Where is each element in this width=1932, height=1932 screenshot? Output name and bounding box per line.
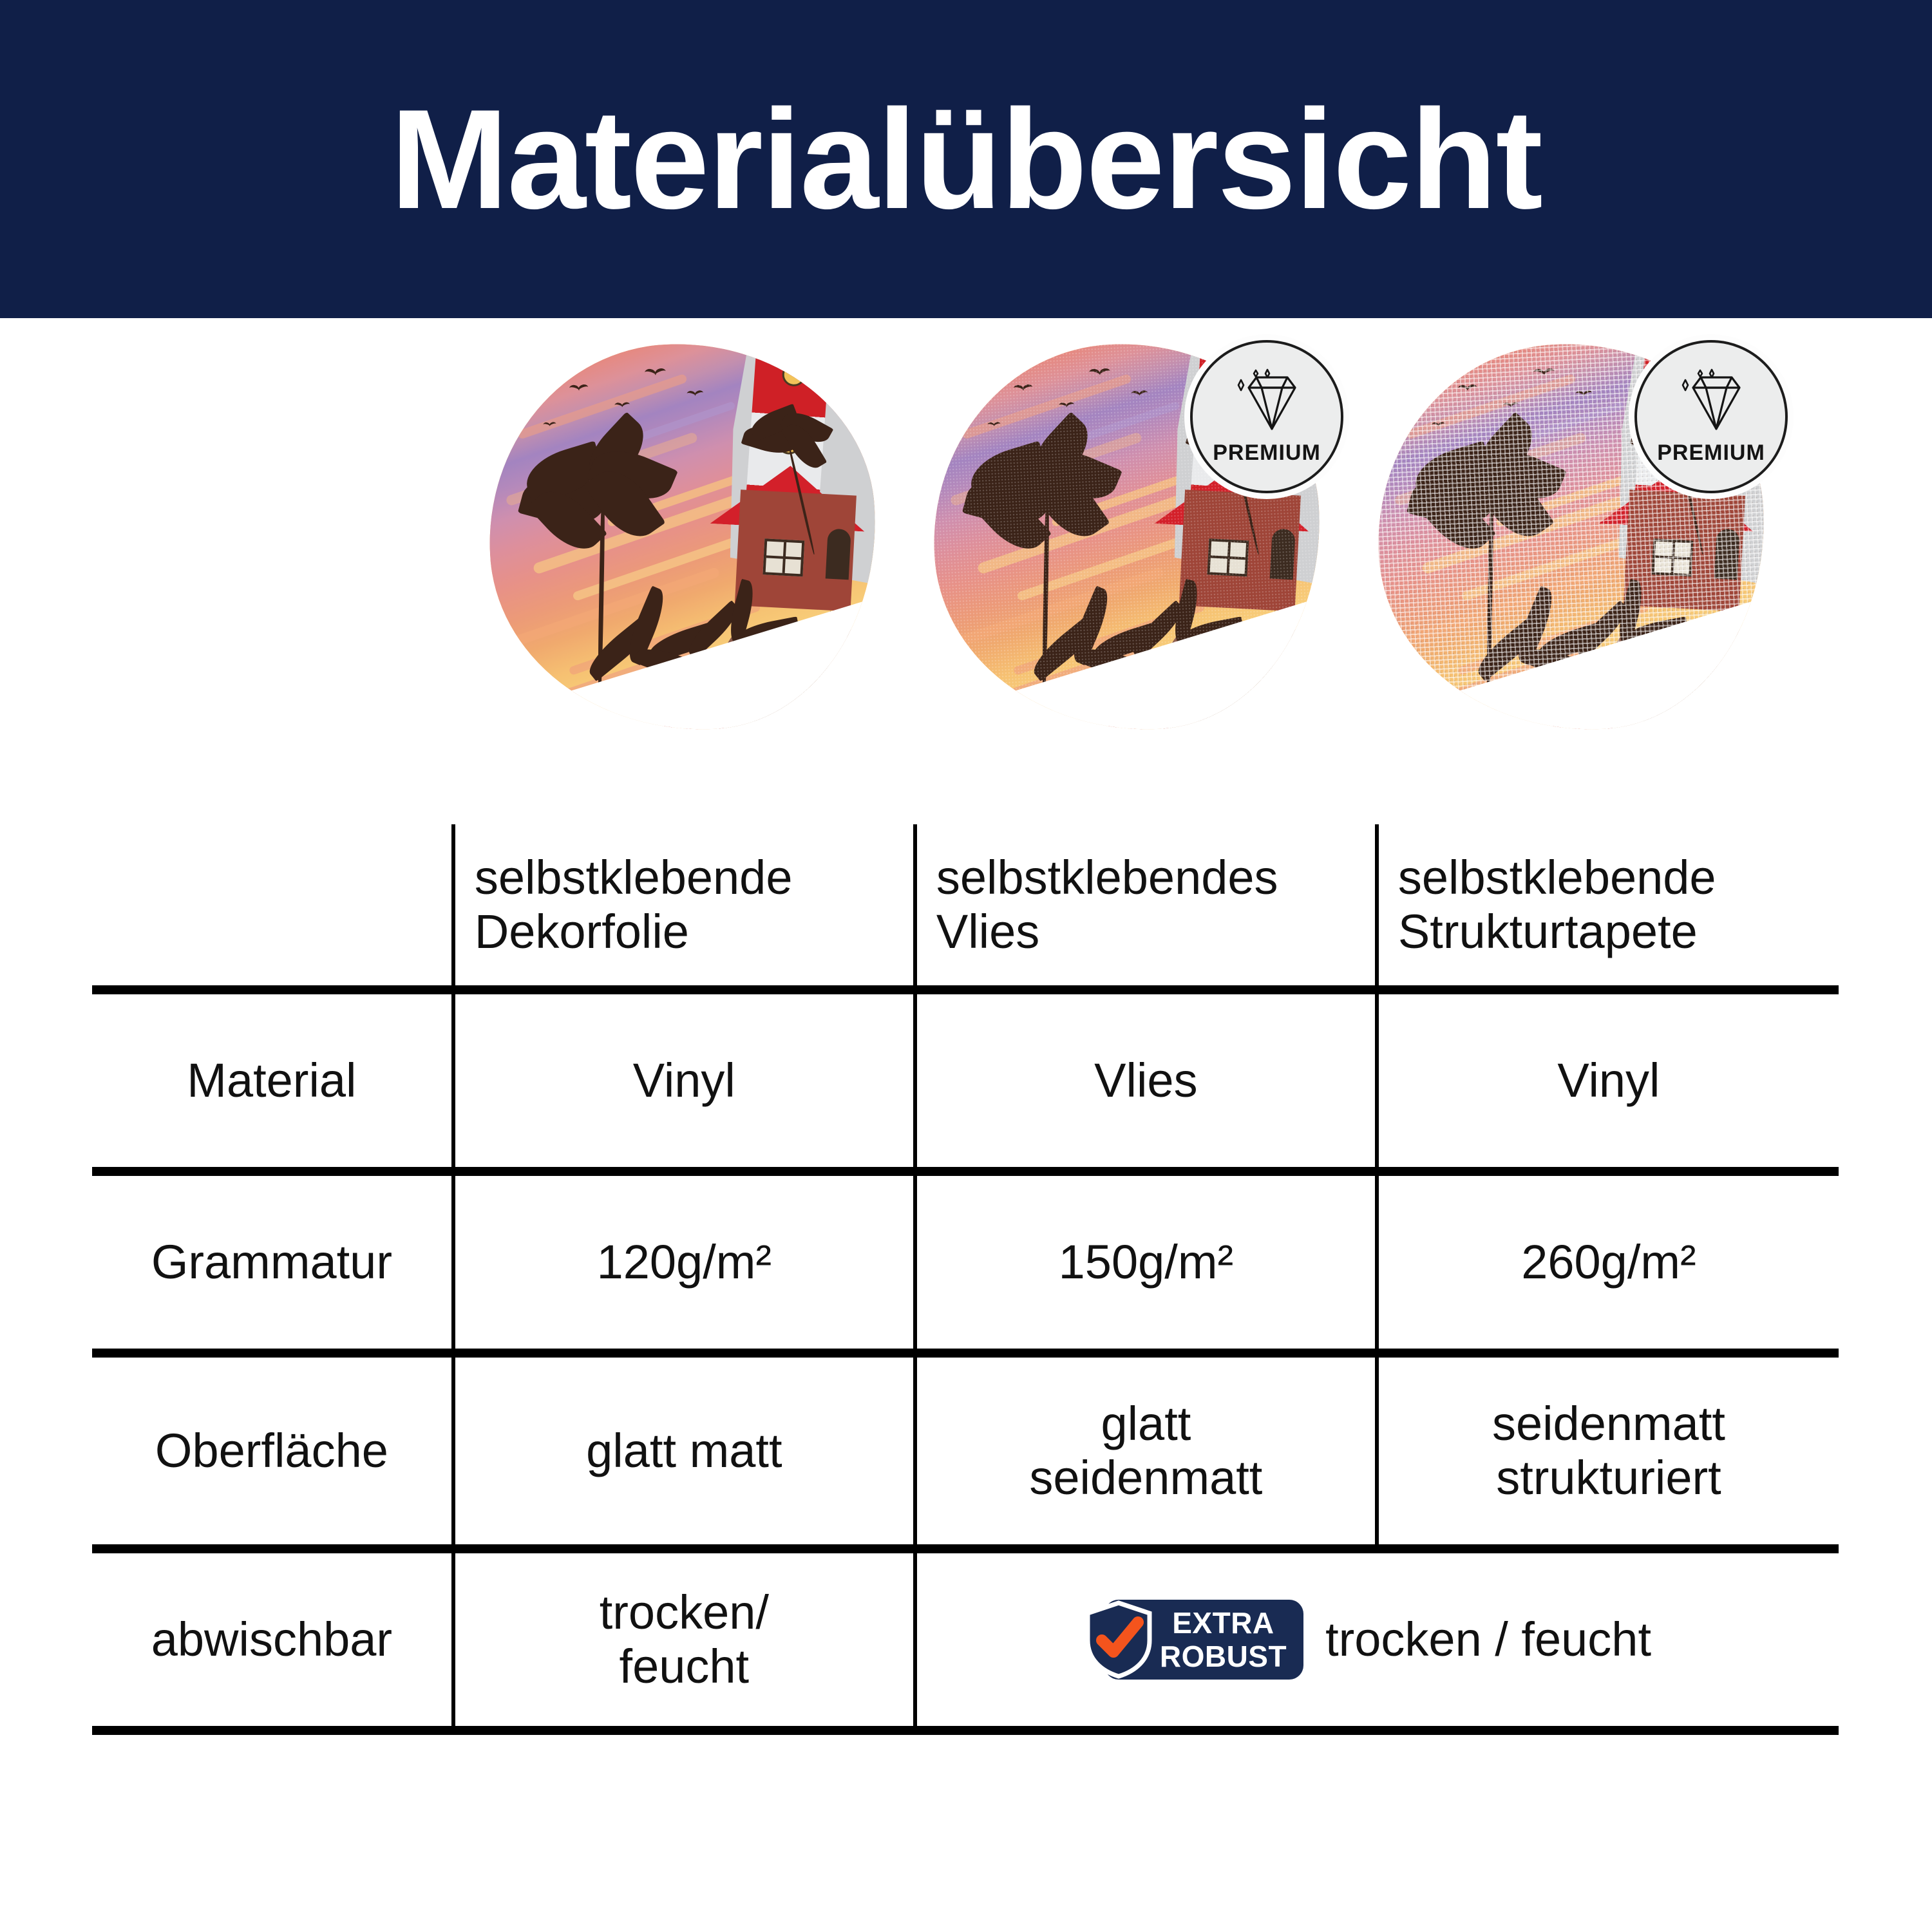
shield-check-icon <box>1083 1600 1155 1679</box>
table-row-grammatur: Grammatur 120g/m² 150g/m² 260g/m² <box>92 1171 1839 1353</box>
bird-icon <box>644 368 667 377</box>
bird-icon <box>1457 384 1477 393</box>
cell-oberflaeche-vlies: glatt seidenmatt <box>915 1353 1377 1549</box>
premium-badge-vlies: PREMIUM <box>1190 340 1343 493</box>
palm-tree-right <box>730 404 854 565</box>
row-label-oberflaeche: Oberfläche <box>92 1353 453 1549</box>
material-spec-table-wrapper: selbstklebende Dekorfolie selbstklebende… <box>92 824 1839 1741</box>
bird-icon <box>687 390 704 397</box>
bird-icon <box>1533 368 1555 377</box>
material-swatch-row: your way of <box>0 318 1932 795</box>
table-row-material: Material Vinyl Vlies Vinyl <box>92 990 1839 1171</box>
header-band: Materialübersicht <box>0 0 1932 318</box>
table-bottom-rule <box>92 1730 1839 1741</box>
cell-grammatur-vlies: 150g/m² <box>915 1171 1377 1353</box>
bird-icon <box>987 422 1001 428</box>
table-bottom-rule-cell <box>92 1730 453 1741</box>
swatch-strukturtapete[interactable]: your way of PREMIUM <box>1378 344 1765 743</box>
table-row-abwischbar: abwischbar trocken/ feucht EXTRA ROBUST <box>92 1549 1839 1730</box>
cell-abwischbar-dekorfolie: trocken/ feucht <box>453 1549 915 1730</box>
cell-material-vlies: Vlies <box>915 990 1377 1171</box>
bird-icon <box>569 384 589 393</box>
lighthouse-window-icon <box>782 362 806 386</box>
swatch-image-dekorfolie: your way of <box>480 334 886 741</box>
bird-icon <box>1088 368 1111 377</box>
extra-robust-badge: EXTRA ROBUST <box>1104 1600 1303 1680</box>
column-header-vlies: selbstklebendes Vlies <box>915 824 1377 990</box>
swatch-dekorfolie[interactable]: your way of <box>489 344 876 743</box>
table-bottom-rule-cell <box>1377 1730 1839 1741</box>
cell-abwischbar-text: trocken / feucht <box>1325 1613 1651 1667</box>
table-header-row: selbstklebende Dekorfolie selbstklebende… <box>92 824 1839 990</box>
bird-icon <box>543 422 556 428</box>
column-header-dekorfolie: selbstklebende Dekorfolie <box>453 824 915 990</box>
page-title: Materialübersicht <box>390 88 1542 230</box>
bird-icon <box>1013 384 1033 393</box>
cell-oberflaeche-strukturtapete: seidenmatt strukturiert <box>1377 1353 1839 1549</box>
robust-badge-text: EXTRA ROBUST <box>1160 1608 1287 1671</box>
premium-badge-strukturtapete: PREMIUM <box>1634 340 1788 493</box>
cell-material-strukturtapete: Vinyl <box>1377 990 1839 1171</box>
bird-icon <box>1432 422 1445 428</box>
bird-icon <box>1503 402 1519 408</box>
cell-abwischbar-merged: EXTRA ROBUST trocken / feucht <box>915 1549 1839 1730</box>
column-header-strukturtapete: selbstklebende Strukturtapete <box>1377 824 1839 990</box>
cell-grammatur-dekorfolie: 120g/m² <box>453 1171 915 1353</box>
row-label-grammatur: Grammatur <box>92 1171 453 1353</box>
row-label-abwischbar: abwischbar <box>92 1549 453 1730</box>
premium-label: PREMIUM <box>1657 440 1765 466</box>
table-bottom-rule-cell <box>453 1730 915 1741</box>
diamond-icon <box>1228 368 1305 437</box>
lighthouse-sunset-artwork: your way of <box>480 334 886 741</box>
row-label-material: Material <box>92 990 453 1171</box>
robust-line-2: ROBUST <box>1160 1642 1287 1671</box>
table-bottom-rule-cell <box>915 1730 1377 1741</box>
abwischbar-merged-content: EXTRA ROBUST trocken / feucht <box>923 1600 1832 1680</box>
material-spec-table: selbstklebende Dekorfolie selbstklebende… <box>92 824 1839 1741</box>
bird-icon <box>1059 402 1075 408</box>
table-row-oberflaeche: Oberfläche glatt matt glatt seidenmatt s… <box>92 1353 1839 1549</box>
table-corner-cell <box>92 824 453 990</box>
premium-label: PREMIUM <box>1213 440 1321 466</box>
diamond-icon <box>1672 368 1750 437</box>
bird-icon <box>614 402 630 408</box>
cell-oberflaeche-dekorfolie: glatt matt <box>453 1353 915 1549</box>
robust-line-1: EXTRA <box>1160 1608 1287 1638</box>
bird-icon <box>1575 390 1593 397</box>
cell-material-dekorfolie: Vinyl <box>453 990 915 1171</box>
cell-grammatur-strukturtapete: 260g/m² <box>1377 1171 1839 1353</box>
swatch-vlies[interactable]: your way of PREMIUM <box>934 344 1320 743</box>
bird-icon <box>1131 390 1148 397</box>
